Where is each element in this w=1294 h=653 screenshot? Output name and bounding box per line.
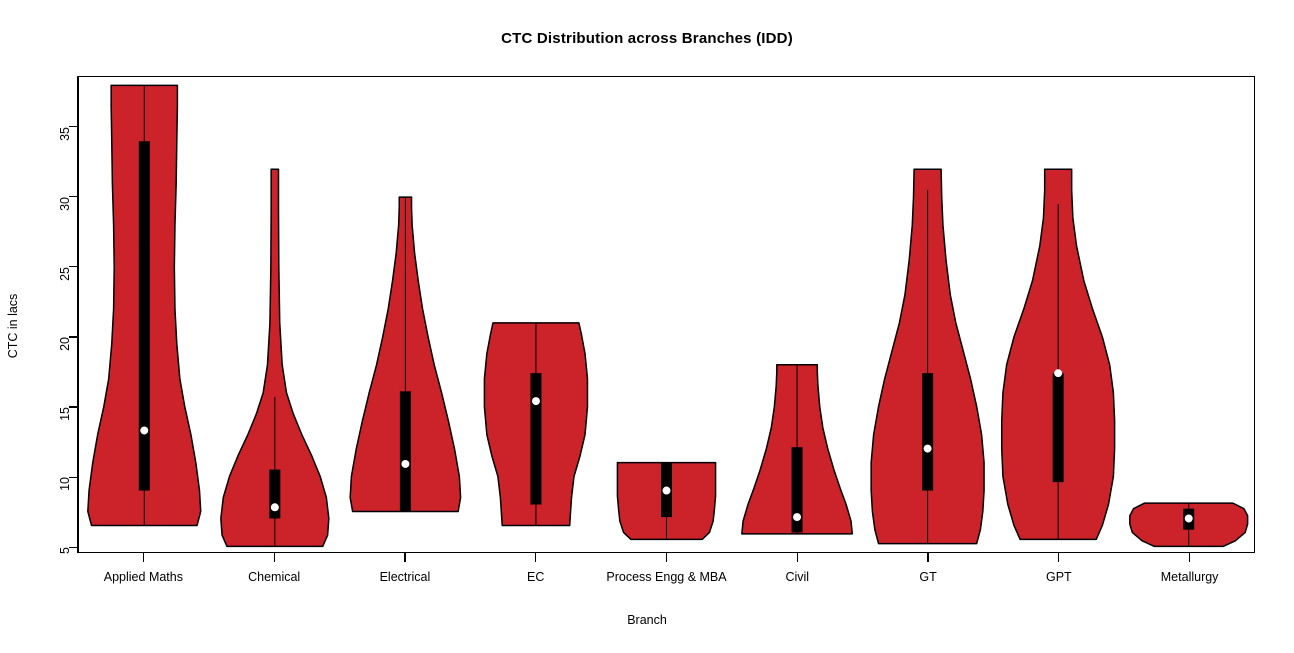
y-tick-label: 30 xyxy=(59,197,71,211)
x-tick-label: GT xyxy=(919,570,936,584)
x-tick-mark xyxy=(927,553,928,562)
violin-process-engg-mba xyxy=(617,463,715,540)
violin-plot-figure: CTC Distribution across Branches (IDD) 5… xyxy=(0,0,1294,653)
iqr-box xyxy=(400,391,411,511)
violin-ec xyxy=(484,323,587,526)
iqr-box xyxy=(1053,373,1064,482)
x-tick-label: Applied Maths xyxy=(104,570,183,584)
median-marker xyxy=(532,397,540,405)
x-tick-mark xyxy=(404,553,405,562)
plot-area xyxy=(78,76,1255,553)
iqr-box xyxy=(922,373,933,490)
median-marker xyxy=(401,460,409,468)
y-tick-label: 35 xyxy=(59,127,71,141)
x-tick-mark xyxy=(1058,553,1059,562)
violin-series-layer xyxy=(79,77,1254,552)
y-tick-label: 15 xyxy=(59,407,71,421)
y-tick-label: 5 xyxy=(59,547,71,554)
violin-civil xyxy=(742,365,852,534)
x-tick-label: EC xyxy=(527,570,544,584)
x-tick-mark xyxy=(274,553,275,562)
y-tick-label: 20 xyxy=(59,337,71,351)
x-tick-mark xyxy=(535,553,536,562)
median-marker xyxy=(140,426,148,434)
x-tick-label: Metallurgy xyxy=(1161,570,1219,584)
violin-gt xyxy=(871,169,984,543)
x-tick-mark xyxy=(143,553,144,562)
x-tick-label: Civil xyxy=(785,570,809,584)
median-marker xyxy=(1185,514,1193,522)
y-tick-label: 10 xyxy=(59,477,71,491)
x-axis-title: Branch xyxy=(0,613,1294,627)
x-tick-mark xyxy=(1189,553,1190,562)
median-marker xyxy=(924,445,932,453)
median-marker xyxy=(271,503,279,511)
median-marker xyxy=(793,513,801,521)
violin-applied-maths xyxy=(88,85,201,525)
iqr-box xyxy=(139,141,150,490)
x-tick-label: Process Engg & MBA xyxy=(606,570,726,584)
x-tick-label: Electrical xyxy=(380,570,431,584)
x-tick-label: GPT xyxy=(1046,570,1072,584)
violin-electrical xyxy=(350,197,460,511)
median-marker xyxy=(663,487,671,495)
x-tick-mark xyxy=(797,553,798,562)
y-axis-title: CTC in lacs xyxy=(6,294,20,359)
median-marker xyxy=(1054,369,1062,377)
violin-gpt xyxy=(1002,169,1115,539)
x-tick-mark xyxy=(666,553,667,562)
y-tick-label: 25 xyxy=(59,267,71,281)
iqr-box xyxy=(530,373,541,504)
violin-metallurgy xyxy=(1130,503,1248,546)
violin-chemical xyxy=(221,169,329,546)
page-title: CTC Distribution across Branches (IDD) xyxy=(0,30,1294,47)
x-tick-label: Chemical xyxy=(248,570,300,584)
